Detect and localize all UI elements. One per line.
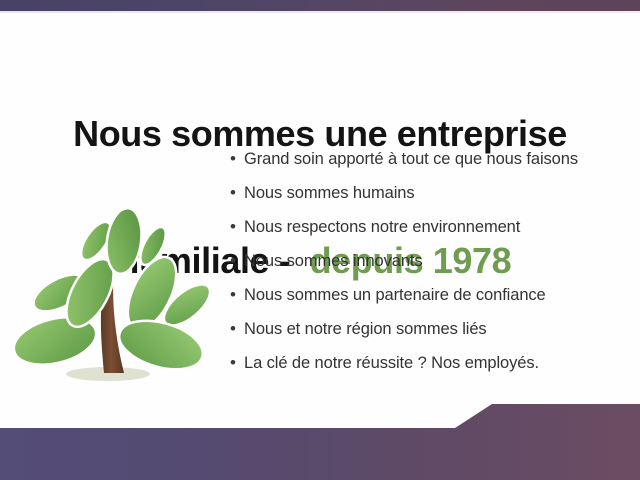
list-item: • Nous sommes innovants (230, 250, 630, 284)
tree-icon (12, 145, 212, 395)
bullet-marker-icon: • (230, 352, 244, 374)
list-item: • Nous respectons notre environnement (230, 216, 630, 250)
bullet-marker-icon: • (230, 216, 244, 238)
benefits-list: • Grand soin apporté à tout ce que nous … (230, 148, 630, 386)
list-item-label: Grand soin apporté à tout ce que nous fa… (244, 148, 578, 170)
bullet-marker-icon: • (230, 148, 244, 170)
slide-canvas: Nous sommes une entreprise familiale - d… (0, 0, 640, 480)
top-accent-bar (0, 0, 640, 11)
list-item-label: Nous et notre région sommes liés (244, 318, 487, 340)
list-item-label: La clé de notre réussite ? Nos employés. (244, 352, 539, 374)
list-item: • Nous sommes humains (230, 182, 630, 216)
list-item: • Grand soin apporté à tout ce que nous … (230, 148, 630, 182)
bullet-marker-icon: • (230, 284, 244, 306)
list-item: • Nous et notre région sommes liés (230, 318, 630, 352)
footer-band: tabor-automobiles.fr (0, 398, 640, 480)
footer-shape (0, 398, 640, 480)
list-item: • La clé de notre réussite ? Nos employé… (230, 352, 630, 386)
list-item-label: Nous sommes innovants (244, 250, 423, 272)
top-accent-hairline (0, 11, 640, 13)
list-item-label: Nous sommes un partenaire de confiance (244, 284, 546, 306)
bullet-marker-icon: • (230, 182, 244, 204)
list-item: • Nous sommes un partenaire de confiance (230, 284, 630, 318)
list-item-label: Nous respectons notre environnement (244, 216, 520, 238)
list-item-label: Nous sommes humains (244, 182, 415, 204)
bullet-marker-icon: • (230, 250, 244, 272)
bullet-marker-icon: • (230, 318, 244, 340)
